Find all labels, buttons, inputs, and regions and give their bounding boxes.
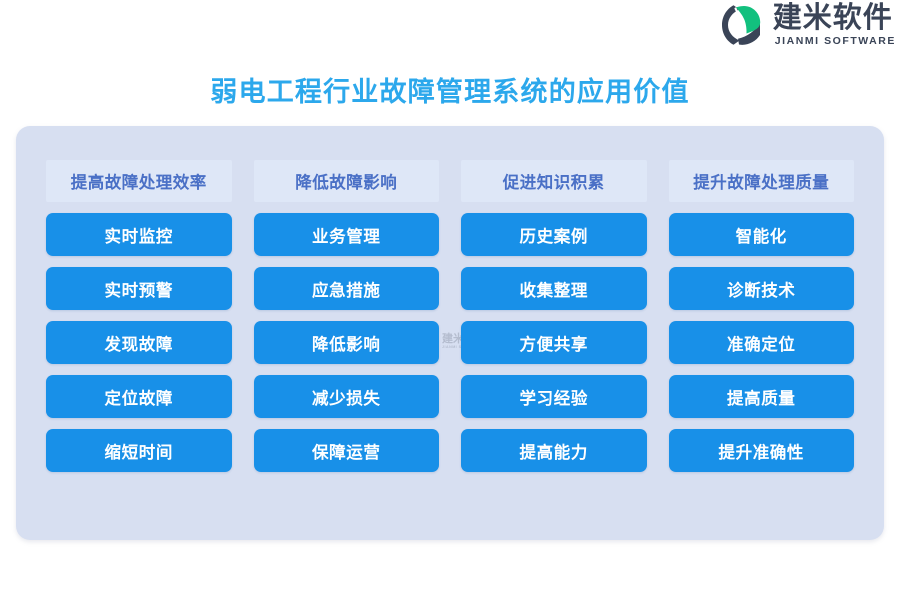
column-header-1: 提高故障处理效率 bbox=[46, 160, 232, 202]
value-item-card[interactable]: 准确定位 bbox=[669, 321, 855, 364]
value-item-card[interactable]: 业务管理 bbox=[254, 213, 440, 256]
value-column-2: 降低故障影响 业务管理 应急措施 降低影响 减少损失 保障运营 bbox=[254, 160, 440, 472]
column-header-2: 降低故障影响 bbox=[254, 160, 440, 202]
page-title: 弱电工程行业故障管理系统的应用价值 bbox=[0, 70, 900, 109]
brand-name-en: JIANMI SOFTWARE bbox=[775, 36, 896, 47]
value-item-card[interactable]: 方便共享 bbox=[461, 321, 647, 364]
value-item-card[interactable]: 发现故障 bbox=[46, 321, 232, 364]
column-header-3: 促进知识积累 bbox=[461, 160, 647, 202]
value-item-card[interactable]: 降低影响 bbox=[254, 321, 440, 364]
value-item-card[interactable]: 收集整理 bbox=[461, 267, 647, 310]
value-item-card[interactable]: 应急措施 bbox=[254, 267, 440, 310]
jianmi-leaf-hexagon-logo-icon bbox=[719, 2, 765, 48]
brand-logo: 建米软件 JIANMI SOFTWARE bbox=[719, 2, 896, 48]
value-item-card[interactable]: 实时预警 bbox=[46, 267, 232, 310]
value-item-card[interactable]: 提高能力 bbox=[461, 429, 647, 472]
value-item-card[interactable]: 提升准确性 bbox=[669, 429, 855, 472]
value-item-card[interactable]: 智能化 bbox=[669, 213, 855, 256]
value-item-card[interactable]: 缩短时间 bbox=[46, 429, 232, 472]
value-item-card[interactable]: 诊断技术 bbox=[669, 267, 855, 310]
column-header-4: 提升故障处理质量 bbox=[669, 160, 855, 202]
value-item-card[interactable]: 学习经验 bbox=[461, 375, 647, 418]
value-matrix-panel: 建米软件 JIANMI SOFTWARE 提高故障处理效率 实时监控 实时预警 … bbox=[16, 126, 884, 540]
value-column-1: 提高故障处理效率 实时监控 实时预警 发现故障 定位故障 缩短时间 bbox=[46, 160, 232, 472]
brand-name-cn: 建米软件 bbox=[773, 3, 893, 32]
value-item-card[interactable]: 提高质量 bbox=[669, 375, 855, 418]
value-item-card[interactable]: 定位故障 bbox=[46, 375, 232, 418]
value-column-4: 提升故障处理质量 智能化 诊断技术 准确定位 提高质量 提升准确性 bbox=[669, 160, 855, 472]
value-item-card[interactable]: 实时监控 bbox=[46, 213, 232, 256]
value-item-card[interactable]: 保障运营 bbox=[254, 429, 440, 472]
brand-text: 建米软件 JIANMI SOFTWARE bbox=[773, 3, 896, 47]
value-column-3: 促进知识积累 历史案例 收集整理 方便共享 学习经验 提高能力 bbox=[461, 160, 647, 472]
value-item-card[interactable]: 减少损失 bbox=[254, 375, 440, 418]
value-grid: 提高故障处理效率 实时监控 实时预警 发现故障 定位故障 缩短时间 降低故障影响… bbox=[46, 160, 854, 472]
value-item-card[interactable]: 历史案例 bbox=[461, 213, 647, 256]
